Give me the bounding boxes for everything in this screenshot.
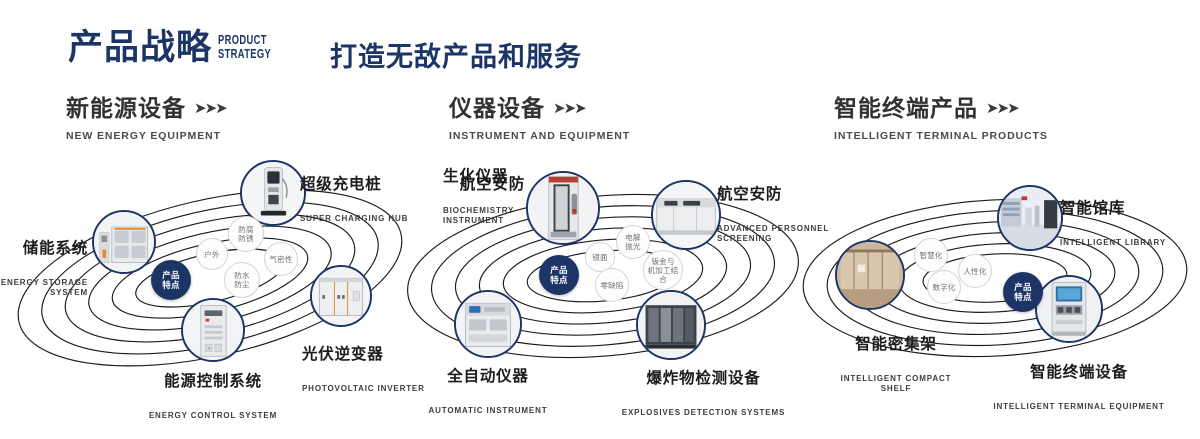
node-photo-advanced-personnel-screening[interactable] bbox=[651, 180, 721, 250]
section-title-cn: 智能终端产品➤➤➤ bbox=[834, 95, 1048, 125]
feature-bubble-anticorrosion[interactable]: 防腐 防锈 bbox=[228, 216, 264, 252]
node-label-energy-storage: 储能系统 ENERGY STORAGE SYSTEM bbox=[0, 222, 88, 316]
energy-control-system-image: ⚡ bbox=[183, 300, 243, 360]
feature-bubble-outdoor[interactable]: 户外 bbox=[196, 238, 228, 270]
chevron-right-icon: ➤➤➤ bbox=[553, 100, 585, 117]
page-title-cn: 产品战略 bbox=[68, 28, 212, 68]
svg-text:⚡: ⚡ bbox=[207, 346, 210, 351]
feature-bubble-human-centered[interactable]: 人性化 bbox=[958, 254, 992, 288]
feature-bubble-electropolishing[interactable]: 电解 抛光 bbox=[616, 225, 650, 259]
section-title-en: NEW ENERGY EQUIPMENT bbox=[66, 130, 226, 142]
feature-bubble-waterproof[interactable]: 防水 防尘 bbox=[224, 262, 260, 298]
core-bubble-product-features[interactable]: 产品 特点 bbox=[151, 260, 191, 300]
node-photo-automatic-instrument[interactable] bbox=[454, 290, 522, 358]
chevron-right-icon: ➤➤➤ bbox=[194, 100, 226, 117]
core-bubble-product-features[interactable]: 产品 特点 bbox=[1003, 272, 1043, 312]
node-label-intelligent-library: 智能馆库 INTELLIGENT LIBRARY bbox=[1060, 182, 1200, 266]
node-photo-photovoltaic-inverter[interactable] bbox=[310, 265, 372, 327]
node-label-automatic-instrument: 全自动仪器 AUTOMATIC INSTRUMENT bbox=[395, 350, 581, 434]
node-photo-explosives-detection-system[interactable] bbox=[636, 290, 706, 360]
node-label-biochemistry-instrument: 生化仪器 BIOCHEMISTRY INSTRUMENT bbox=[443, 150, 563, 244]
node-label-explosives-detection-system: 爆炸物检测设备 EXPLOSIVES DETECTION SYSTEMS bbox=[591, 352, 816, 436]
node-photo-energy-control-system[interactable]: ⚡ bbox=[181, 298, 245, 362]
section-title-cn: 新能源设备➤➤➤ bbox=[66, 95, 226, 125]
chevron-right-icon: ➤➤➤ bbox=[986, 100, 1018, 117]
automatic-instrument-image bbox=[456, 292, 520, 356]
intelligent-library-image bbox=[999, 187, 1061, 249]
page-title-en: PRODUCT STRATEGY bbox=[218, 33, 271, 61]
node-photo-intelligent-library[interactable] bbox=[997, 185, 1063, 251]
feature-bubble-zero-defect[interactable]: 零缺陷 bbox=[595, 268, 629, 302]
section-title-en: INTELLIGENT TERMINAL PRODUCTS bbox=[834, 130, 1048, 142]
cluster-new-energy: 储能系统 ENERGY STORAGE SYSTEM 超级充电桩 SUPER C… bbox=[0, 150, 420, 400]
intelligent-compact-shelf-image bbox=[837, 242, 903, 308]
feature-bubble-sheetmetal-machining[interactable]: 钣金与 机加工结合 bbox=[643, 250, 683, 290]
section-title-en: INSTRUMENT AND EQUIPMENT bbox=[449, 130, 630, 142]
node-label-intelligent-terminal-equipment: 智能终端设备 INTELLIGENT TERMINAL EQUIPMENT bbox=[958, 346, 1200, 430]
node-photo-intelligent-terminal-equipment[interactable] bbox=[1035, 275, 1103, 343]
feature-bubble-airtight[interactable]: 气密性 bbox=[264, 242, 298, 276]
node-photo-intelligent-compact-shelf[interactable] bbox=[835, 240, 905, 310]
section-title-intelligent-terminal: 智能终端产品➤➤➤ INTELLIGENT TERMINAL PRODUCTS bbox=[834, 95, 1048, 142]
super-charging-hub-image bbox=[242, 162, 304, 224]
energy-storage-cabinet-image bbox=[94, 212, 154, 272]
explosives-detection-system-image bbox=[638, 292, 704, 358]
node-photo-energy-storage-cabinet[interactable] bbox=[92, 210, 156, 274]
advanced-personnel-screening-image bbox=[653, 182, 719, 248]
page-slogan: 打造无敌产品和服务 bbox=[330, 35, 582, 74]
core-bubble-product-features[interactable]: 产品 特点 bbox=[539, 255, 579, 295]
feature-bubble-intelligent[interactable]: 智慧化 bbox=[914, 238, 948, 272]
photovoltaic-inverter-image bbox=[312, 267, 370, 325]
cluster-intelligent-terminal: 智能馆库 INTELLIGENT LIBRARY 智能密集架 INTELLIGE… bbox=[790, 150, 1200, 400]
cluster-instrument: 航空安防 生化仪器 BIOCHEMISTRY INSTRUMENT 航空安防 A… bbox=[395, 150, 815, 400]
section-title-cn: 仪器设备➤➤➤ bbox=[449, 95, 630, 125]
page-header: 产品战略 PRODUCT STRATEGY 打造无敌产品和服务 bbox=[0, 0, 1200, 86]
feature-bubble-digital[interactable]: 数字化 bbox=[927, 270, 961, 304]
section-title-instrument: 仪器设备➤➤➤ INSTRUMENT AND EQUIPMENT bbox=[449, 95, 630, 142]
intelligent-terminal-equipment-image bbox=[1037, 277, 1101, 341]
section-title-new-energy: 新能源设备➤➤➤ NEW ENERGY EQUIPMENT bbox=[66, 95, 226, 142]
node-label-energy-control-system: 能源控制系统 ENERGY CONTROL SYSTEM bbox=[88, 355, 338, 439]
